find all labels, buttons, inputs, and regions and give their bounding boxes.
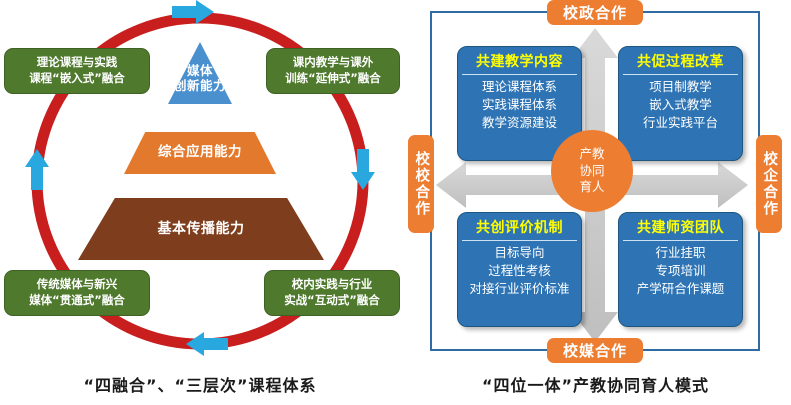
quadrant-items-top-left: 理论课程体系 实践课程体系 教学资源建设 (462, 78, 577, 131)
quadrant-title-bottom-right: 共建师资团队 (623, 217, 738, 241)
cooperation-tab-left[interactable]: 校校合作 (408, 135, 434, 233)
capability-tier-bottom-label: 基本传播能力 (158, 221, 245, 238)
arrow-right-icon (351, 149, 375, 190)
right-diagram-panel: 共建教学内容 理论课程体系 实践课程体系 教学资源建设 共促过程改革 项目制教学… (400, 0, 791, 405)
capability-tier-middle: 综合应用能力 (124, 132, 276, 174)
center-circle-label: 产教 协同 育人 (551, 130, 633, 212)
quadrant-box-bottom-left[interactable]: 共创评价机制 目标导向 过程性考核 对接行业评价标准 (457, 212, 582, 327)
quadrant-title-top-right: 共促过程改革 (623, 51, 738, 75)
fusion-label-top-left-line1: 理论课程与实践 (37, 55, 118, 69)
arrow-bottom-icon (186, 332, 228, 356)
fusion-label-bottom-right-line2: 实战“互动式”融合 (284, 293, 380, 307)
fusion-label-top-left: 理论课程与实践 课程“嵌入式”融合 (4, 48, 150, 94)
center-line1: 产教 (579, 146, 604, 161)
quadrant-items-top-right: 项目制教学 嵌入式教学 行业实践平台 (623, 78, 738, 131)
quadrant-box-top-right[interactable]: 共促过程改革 项目制教学 嵌入式教学 行业实践平台 (618, 46, 743, 161)
cooperation-tab-bottom-label: 校媒合作 (563, 340, 627, 361)
quadrant-items-bottom-left: 目标导向 过程性考核 对接行业评价标准 (462, 244, 577, 297)
cooperation-tab-right-label: 校企合作 (762, 151, 777, 217)
cooperation-tab-bottom[interactable]: 校媒合作 (547, 338, 643, 363)
fusion-label-top-right-line1: 课内教学与课外 (293, 55, 374, 69)
left-diagram-panel: 媒体 创新能力 综合应用能力 基本传播能力 理论课程与实践 课程“嵌入式”融合 … (0, 0, 400, 405)
quadrant-title-top-left: 共建教学内容 (462, 51, 577, 75)
fusion-label-top-right-line2: 训练“延伸式”融合 (285, 71, 381, 85)
left-diagram-caption: “四融合”、“三层次”课程体系 (0, 372, 400, 396)
fusion-label-bottom-left-line2: 媒体“贯通式”融合 (29, 293, 125, 307)
cooperation-tab-right[interactable]: 校企合作 (756, 135, 782, 233)
fusion-label-bottom-right-line1: 校内实践与行业 (292, 277, 373, 291)
cooperation-tab-left-label: 校校合作 (414, 151, 429, 217)
fusion-label-bottom-left-line1: 传统媒体与新兴 (37, 277, 118, 291)
fusion-label-bottom-left: 传统媒体与新兴 媒体“贯通式”融合 (4, 270, 150, 316)
fusion-label-top-left-line2: 课程“嵌入式”融合 (29, 71, 125, 85)
fusion-label-top-right: 课内教学与课外 训练“延伸式”融合 (266, 48, 400, 94)
arrow-left-icon (25, 149, 49, 190)
center-line3: 育人 (579, 179, 604, 194)
diagram-stage: 媒体 创新能力 综合应用能力 基本传播能力 理论课程与实践 课程“嵌入式”融合 … (0, 0, 791, 405)
fusion-label-bottom-right: 校内实践与行业 实战“互动式”融合 (264, 270, 400, 316)
center-line2: 协同 (579, 163, 604, 178)
quadrant-box-bottom-right[interactable]: 共建师资团队 行业挂职 专项培训 产学研合作课题 (618, 212, 743, 327)
quadrant-title-bottom-left: 共创评价机制 (462, 217, 577, 241)
cooperation-tab-top[interactable]: 校政合作 (547, 0, 643, 25)
capability-tier-bottom: 基本传播能力 (78, 198, 324, 260)
capability-tier-middle-label: 综合应用能力 (158, 145, 242, 161)
quadrant-items-bottom-right: 行业挂职 专项培训 产学研合作课题 (623, 244, 738, 297)
cooperation-tab-top-label: 校政合作 (563, 2, 627, 23)
right-diagram-caption: “四位一体”产教协同育人模式 (400, 372, 791, 396)
